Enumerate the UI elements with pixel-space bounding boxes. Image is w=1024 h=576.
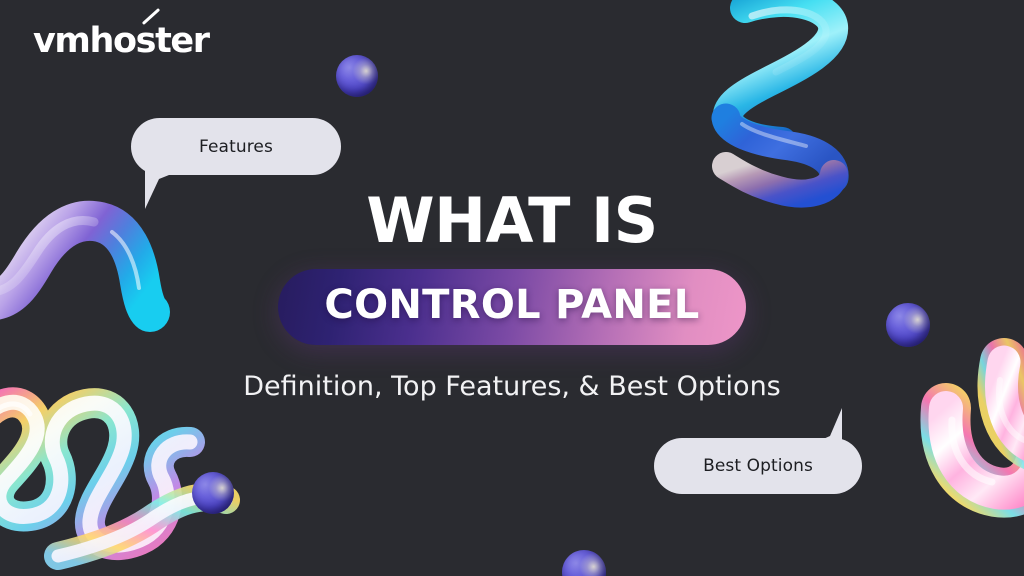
headline-line-1: WHAT IS <box>0 188 1024 253</box>
headline-subtitle: Definition, Top Features, & Best Options <box>0 371 1024 402</box>
headline-block: WHAT IS CONTROL PANEL Definition, Top Fe… <box>0 188 1024 402</box>
brand-logo-text: vmhoster <box>33 24 209 59</box>
sphere-bottom-left <box>192 472 234 514</box>
sphere-bottom-center <box>562 550 606 576</box>
callout-bubble-best-options-label: Best Options <box>703 456 813 476</box>
callout-bubble-features-label: Features <box>199 137 273 157</box>
callout-bubble-features[interactable]: Features <box>131 118 341 175</box>
headline-gradient-pill: CONTROL PANEL <box>278 269 745 345</box>
sphere-top-left-center <box>336 55 378 97</box>
iridescent-squiggle-bottom-left <box>0 402 226 556</box>
poster-canvas: vmhoster Features Best Options WHAT IS C… <box>0 0 1024 576</box>
zigzag-ribbon-top-right <box>726 2 834 194</box>
headline-pill-text: CONTROL PANEL <box>324 283 699 327</box>
brand-logo[interactable]: vmhoster <box>33 24 209 59</box>
callout-bubble-best-options[interactable]: Best Options <box>654 438 862 494</box>
callout-bubble-best-options-tail <box>812 408 842 444</box>
